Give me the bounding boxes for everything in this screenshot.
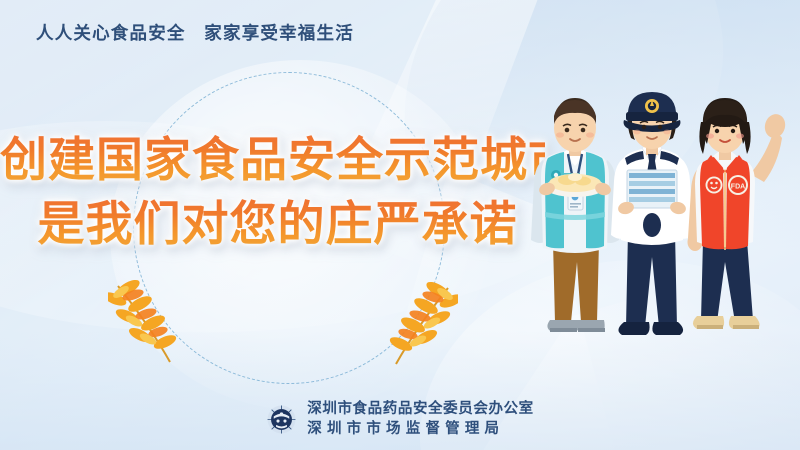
headline-line-2: 是我们对您的庄严承诺 (0, 192, 545, 256)
top-slogan: 人人关心食品安全 家家享受幸福生活 (36, 20, 354, 45)
poster-canvas: 人人关心食品安全 家家享受幸福生活 创建国家食品安全示范城市 是我们对您的庄严承… (0, 0, 800, 450)
footer-org-line-1: 深圳市食品药品安全委员会办公室 (307, 399, 534, 420)
footer-org-line-2: 深圳市市场监督管理局 (307, 419, 534, 440)
headline-line-1: 创建国家食品安全示范城市 (0, 128, 545, 192)
wheat-stalk-icon-left (108, 276, 188, 371)
page-title: 创建国家食品安全示范城市 是我们对您的庄严承诺 (0, 128, 545, 256)
figure-inspection-officer (611, 92, 693, 335)
wheat-stalk-icon-right (378, 278, 458, 373)
figure-food-worker (531, 98, 619, 332)
government-emblem-icon (266, 404, 297, 435)
illustration-three-figures: FDA (525, 82, 800, 372)
footer-organization: 深圳市食品药品安全委员会办公室 深圳市市场监督管理局 (0, 399, 800, 440)
footer-text-block: 深圳市食品药品安全委员会办公室 深圳市市场监督管理局 (307, 399, 534, 440)
figure-volunteer: FDA (688, 98, 788, 329)
svg-text:FDA: FDA (731, 184, 745, 191)
